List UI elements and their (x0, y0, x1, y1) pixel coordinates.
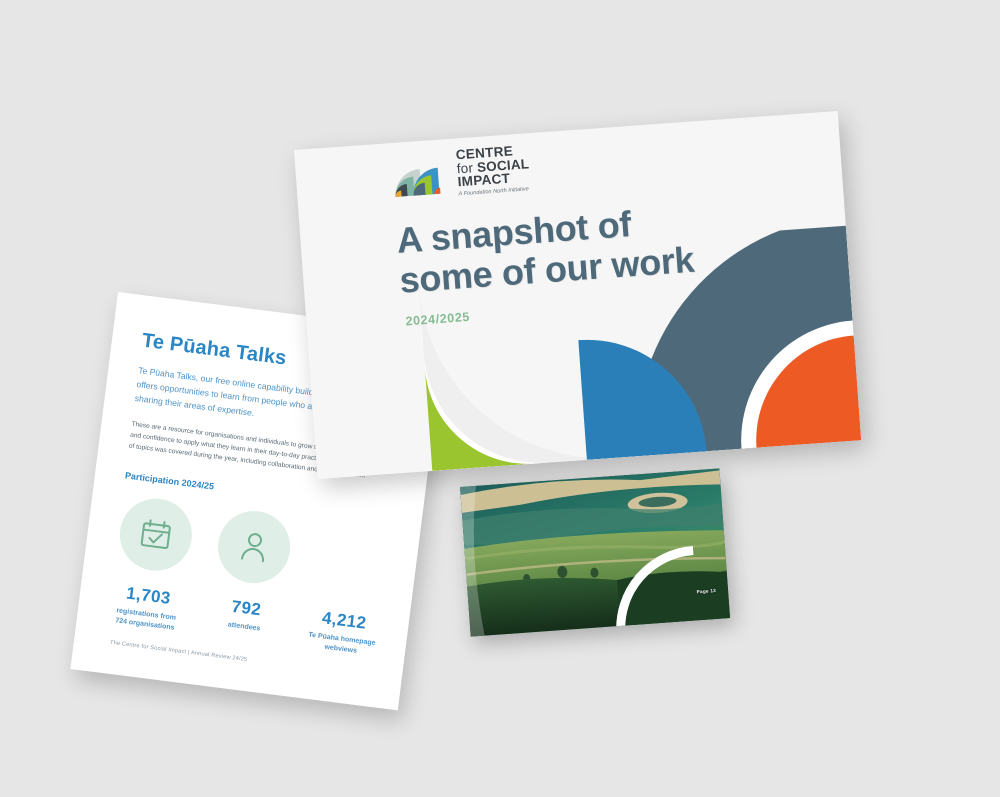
csi-logo: CENTRE for SOCIAL IMPACT A Foundation No… (390, 143, 531, 203)
stat-icon-circle (116, 494, 196, 574)
landscape-photo-card: Page 13 (460, 468, 730, 636)
aerial-landscape-photo (460, 468, 730, 636)
stat-icon-circle (312, 519, 392, 599)
document-mockup-stage: Te Pūaha Talks Te Pūaha Talks, our free … (0, 0, 1000, 797)
person-icon (235, 528, 273, 566)
stat-icon-circle (214, 507, 294, 587)
cover-slide: CENTRE for SOCIAL IMPACT A Foundation No… (294, 111, 861, 479)
nested-arcs-logo-mark (391, 153, 452, 199)
logo-wordmark: CENTRE for SOCIAL IMPACT A Foundation No… (455, 143, 531, 198)
calendar-check-icon (137, 515, 175, 553)
